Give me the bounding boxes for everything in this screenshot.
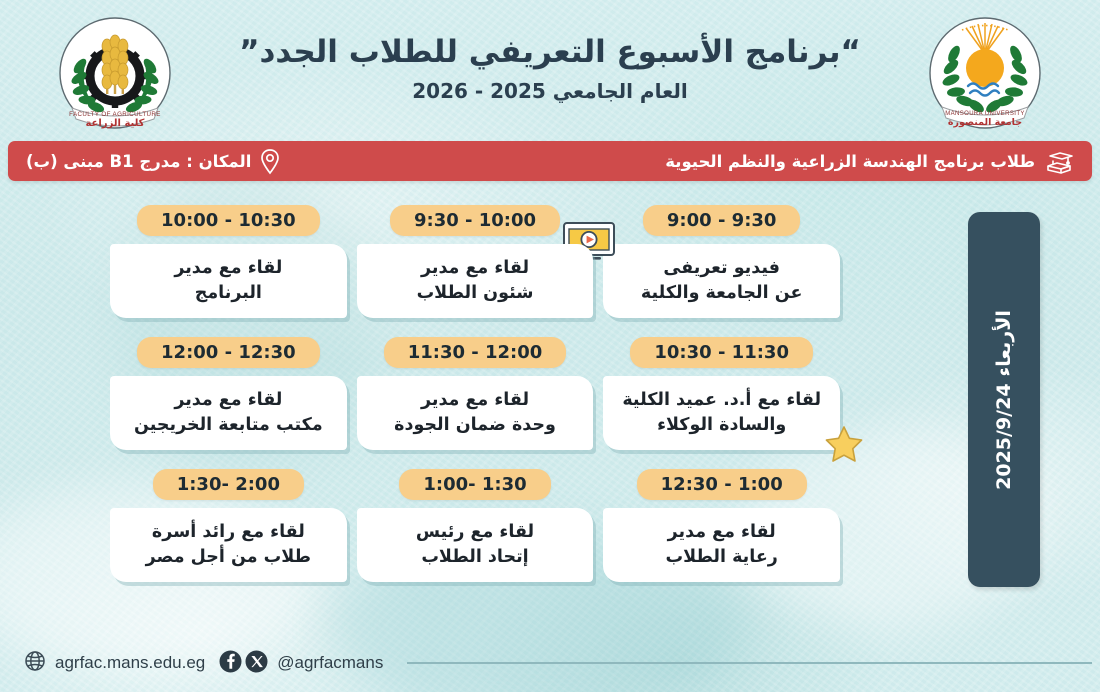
schedule-grid: 9:00 - 9:30 فيديو تعريفى عن الجامعة والك…	[0, 205, 940, 601]
banner-location-text: المكان : مدرج B1 مبنى (ب)	[26, 152, 251, 171]
academic-year-subtitle: العام الجامعي 2025 - 2026	[200, 79, 900, 103]
session-line: رعاية الطلاب	[665, 545, 777, 570]
session-line: لقاء مع مدير	[421, 388, 529, 413]
schedule-cell: 10:30 - 11:30 لقاء مع أ.د. عميد الكلية و…	[603, 337, 840, 469]
session-card[interactable]: لقاء مع رئيس إتحاد الطلاب	[357, 508, 594, 582]
session-card[interactable]: لقاء مع مدير رعاية الطلاب	[603, 508, 840, 582]
date-side-panel: الأربعاء 2025/9/24	[968, 212, 1040, 587]
website-item[interactable]: agrfac.mans.edu.eg	[24, 650, 205, 676]
session-line: وحدة ضمان الجودة	[394, 413, 556, 438]
date-panel-day: الأربعاء	[993, 310, 1015, 376]
social-handle: @agrfacmans	[277, 653, 383, 673]
infographic-poster: FACULTY OF AGRICULTURE كلية الزراعة	[0, 0, 1100, 692]
session-line: إتحاد الطلاب	[421, 545, 528, 570]
session-card[interactable]: فيديو تعريفى عن الجامعة والكلية	[603, 244, 840, 318]
mansoura-university-logo: MANSOURA UNIVERSITY جامعة المنصورة	[926, 14, 1044, 132]
globe-icon	[24, 650, 46, 676]
session-line: لقاء مع رائد أسرة	[152, 520, 305, 545]
schedule-cell: 12:00 - 12:30 لقاء مع مدير مكتب متابعة ا…	[110, 337, 347, 469]
session-line: لقاء مع أ.د. عميد الكلية	[622, 388, 821, 413]
session-card[interactable]: لقاء مع رائد أسرة طلاب من أجل مصر	[110, 508, 347, 582]
session-line: لقاء مع مدير	[174, 256, 282, 281]
poster-header: FACULTY OF AGRICULTURE كلية الزراعة	[0, 0, 1100, 138]
date-panel-content: الأربعاء 2025/9/24	[993, 310, 1015, 490]
session-card[interactable]: لقاء مع أ.د. عميد الكلية والسادة الوكلاء	[603, 376, 840, 450]
session-line: لقاء مع مدير	[174, 388, 282, 413]
date-panel-date: 2025/9/24	[993, 383, 1015, 489]
session-line: عن الجامعة والكلية	[641, 281, 803, 306]
schedule-cell: 1:30- 2:00 لقاء مع رائد أسرة طلاب من أجل…	[110, 469, 347, 601]
schedule-cell: 12:30 - 1:00 لقاء مع مدير رعاية الطلاب	[603, 469, 840, 601]
page-title: “برنامج الأسبوع التعريفي للطلاب الجدد”	[200, 34, 900, 71]
social-item[interactable]: @agrfacmans	[219, 650, 383, 677]
time-pill: 9:30 - 10:00	[390, 205, 560, 236]
session-line: البرنامج	[195, 281, 262, 306]
svg-text:FACULTY OF AGRICULTURE: FACULTY OF AGRICULTURE	[69, 111, 161, 118]
time-pill: 12:30 - 1:00	[637, 469, 807, 500]
banner-audience-text: طلاب برنامج الهندسة الزراعية والنظم الحي…	[665, 152, 1035, 171]
session-line: والسادة الوكلاء	[657, 413, 786, 438]
footer-divider	[407, 662, 1092, 664]
session-line: مكتب متابعة الخريجين	[134, 413, 323, 438]
session-line: لقاء مع مدير	[421, 256, 529, 281]
schedule-cell: 11:30 - 12:00 لقاء مع مدير وحدة ضمان الج…	[357, 337, 594, 469]
time-pill: 9:00 - 9:30	[643, 205, 801, 236]
time-pill: 10:30 - 11:30	[630, 337, 813, 368]
time-pill: 11:30 - 12:00	[384, 337, 567, 368]
session-card[interactable]: لقاء مع مدير وحدة ضمان الجودة	[357, 376, 594, 450]
x-twitter-icon[interactable]	[245, 650, 268, 677]
session-line: فيديو تعريفى	[663, 256, 780, 281]
session-card[interactable]: لقاء مع مدير مكتب متابعة الخريجين	[110, 376, 347, 450]
info-banner: طلاب برنامج الهندسة الزراعية والنظم الحي…	[8, 141, 1092, 181]
facebook-icon[interactable]	[219, 650, 242, 677]
session-line: لقاء مع رئيس	[416, 520, 534, 545]
website-url: agrfac.mans.edu.eg	[55, 653, 205, 673]
time-pill: 12:00 - 12:30	[137, 337, 320, 368]
svg-text:كلية الزراعة: كلية الزراعة	[85, 118, 144, 129]
time-pill: 10:00 - 10:30	[137, 205, 320, 236]
title-block: “برنامج الأسبوع التعريفي للطلاب الجدد” ا…	[200, 34, 900, 103]
schedule-cell: 9:30 - 10:00 لقاء مع مدير شئون الطلاب	[357, 205, 594, 337]
session-line: شئون الطلاب	[417, 281, 534, 306]
session-line: طلاب من أجل مصر	[146, 545, 311, 570]
location-pin-icon	[260, 148, 280, 175]
banner-audience-group: طلاب برنامج الهندسة الزراعية والنظم الحي…	[665, 148, 1074, 174]
schedule-cell: 1:00- 1:30 لقاء مع رئيس إتحاد الطلاب	[357, 469, 594, 601]
svg-text:جامعة المنصورة: جامعة المنصورة	[948, 117, 1022, 128]
session-card[interactable]: لقاء مع مدير البرنامج	[110, 244, 347, 318]
star-icon	[824, 424, 864, 464]
time-pill: 1:30- 2:00	[153, 469, 304, 500]
faculty-of-agriculture-logo: FACULTY OF AGRICULTURE كلية الزراعة	[56, 14, 174, 132]
graduation-cap-books-icon	[1044, 148, 1074, 174]
schedule-cell: 9:00 - 9:30 فيديو تعريفى عن الجامعة والك…	[603, 205, 840, 337]
session-line: لقاء مع مدير	[668, 520, 776, 545]
time-pill: 1:00- 1:30	[399, 469, 550, 500]
schedule-cell: 10:00 - 10:30 لقاء مع مدير البرنامج	[110, 205, 347, 337]
banner-location-group: المكان : مدرج B1 مبنى (ب)	[26, 148, 280, 175]
session-card[interactable]: لقاء مع مدير شئون الطلاب	[357, 244, 594, 318]
poster-footer: agrfac.mans.edu.eg	[0, 634, 1100, 692]
